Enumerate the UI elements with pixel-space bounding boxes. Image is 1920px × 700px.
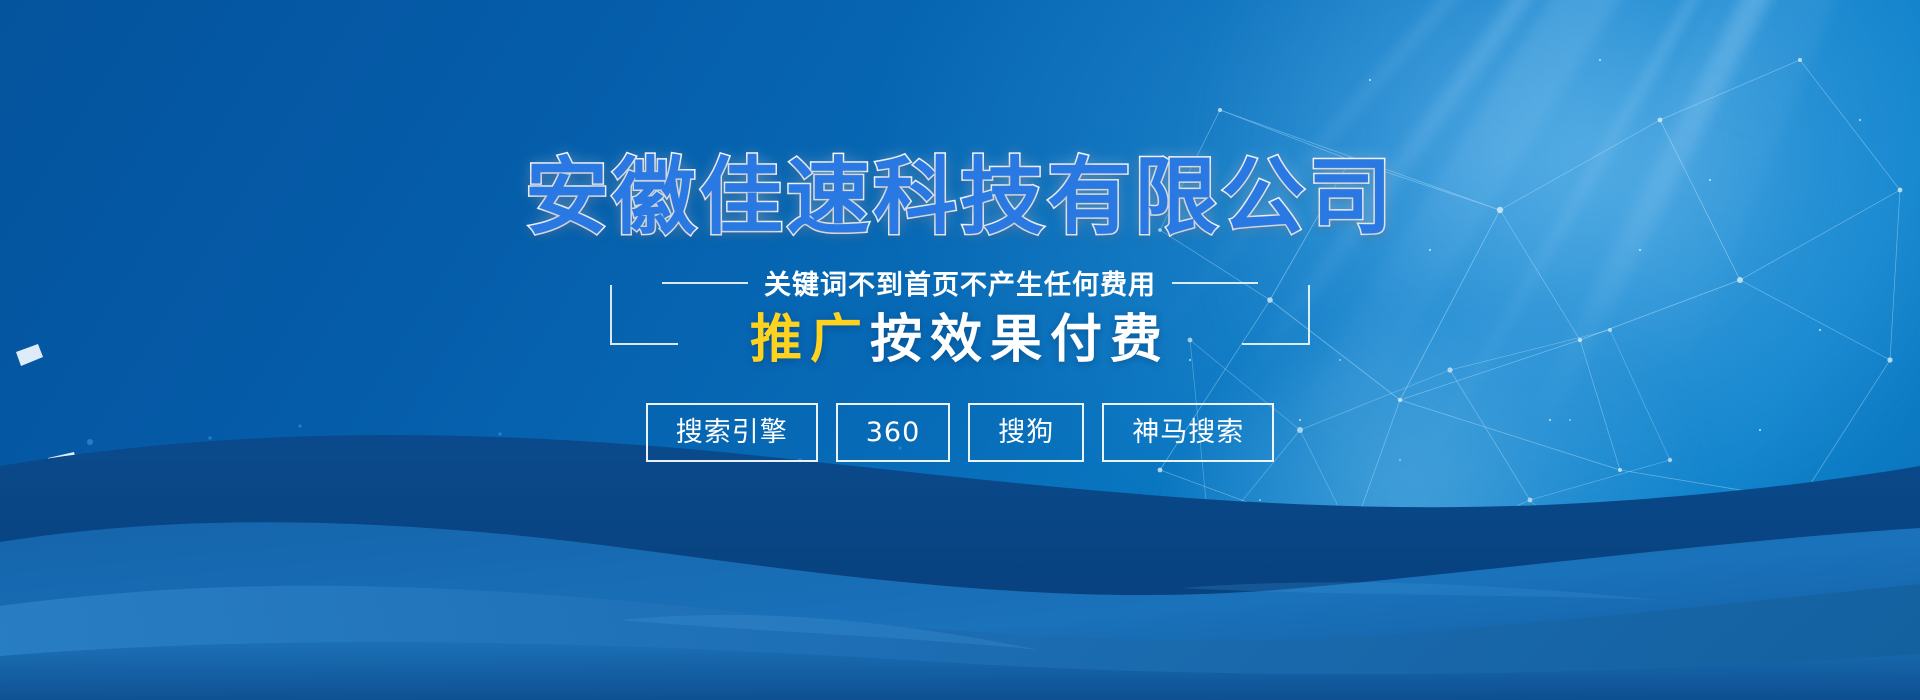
bracket-left-decoration (610, 285, 678, 345)
button-360[interactable]: 360 (836, 403, 951, 462)
subtitle-row: 关键词不到首页不产生任何费用 (610, 263, 1310, 302)
tagline-highlight: 推广 (750, 310, 870, 370)
banner-content: 安徽佳速科技有限公司 关键词不到首页不产生任何费用 推广按效果付费 搜索引擎 3… (0, 0, 1920, 700)
promo-banner: 安徽佳速科技有限公司 关键词不到首页不产生任何费用 推广按效果付费 搜索引擎 3… (0, 0, 1920, 700)
subtitle-text: 关键词不到首页不产生任何费用 (764, 263, 1156, 302)
button-search-engine[interactable]: 搜索引擎 (646, 403, 818, 462)
search-engine-buttons: 搜索引擎 360 搜狗 神马搜索 (646, 403, 1275, 462)
button-shenma-search[interactable]: 神马搜索 (1102, 403, 1274, 462)
tagline-rest: 按效果付费 (870, 310, 1170, 370)
rule-left (662, 282, 748, 284)
headline-group: 关键词不到首页不产生任何费用 推广按效果付费 (610, 263, 1310, 369)
button-sogou[interactable]: 搜狗 (968, 403, 1084, 462)
tagline: 推广按效果付费 (750, 312, 1170, 369)
bracket-right-decoration (1242, 285, 1310, 345)
company-title: 安徽佳速科技有限公司 (525, 155, 1395, 239)
rule-right (1172, 282, 1258, 284)
